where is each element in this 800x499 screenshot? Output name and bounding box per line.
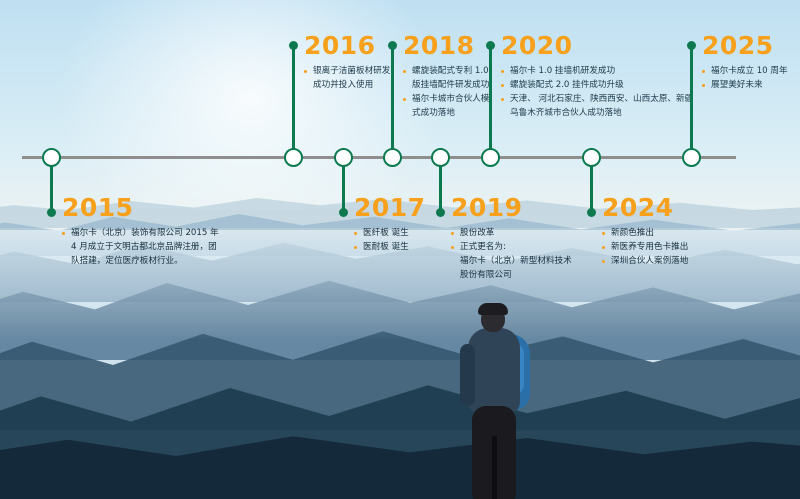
milestone-stem-cap-2016: [289, 41, 298, 50]
milestone-2019[interactable]: 2019股份改革正式更名为:福尔卡（北京）新型材料技术股份有限公司: [451, 195, 572, 282]
hiker-leg-gap: [492, 436, 497, 499]
milestone-item: 福尔卡（北京）装饰有限公司 2015 年: [62, 226, 219, 240]
milestone-2016[interactable]: 2016银离子洁菌板材研发成功并投入使用: [304, 33, 390, 92]
milestone-items-2025: 福尔卡成立 10 周年展望美好未来: [702, 64, 788, 92]
milestone-stem-2016: [292, 45, 295, 157]
milestone-items-2017: 医纤板 诞生医耐板 诞生: [354, 226, 426, 254]
milestone-stem-cap-2024: [587, 208, 596, 217]
milestone-stem-cap-2015: [47, 208, 56, 217]
milestone-2018[interactable]: 2018螺旋装配式专利 1.0版挂墙配件研发成功福尔卡城市合伙人模式成功落地: [403, 33, 489, 120]
milestone-2020[interactable]: 2020福尔卡 1.0 挂墙机研发成功螺旋装配式 2.0 挂件成功升级天津、 河…: [501, 33, 693, 120]
timeline-node-2015[interactable]: [42, 148, 61, 167]
timeline-node-2017[interactable]: [334, 148, 353, 167]
milestone-item: 正式更名为:: [451, 240, 572, 254]
milestone-stem-cap-2019: [436, 208, 445, 217]
milestone-items-2024: 新颜色推出新医养专用色卡推出深圳合伙人案例落地: [602, 226, 688, 268]
milestone-items-2019: 股份改革正式更名为:福尔卡（北京）新型材料技术股份有限公司: [451, 226, 572, 282]
milestone-year-2025: 2025: [702, 33, 788, 58]
milestone-stem-cap-2020: [486, 41, 495, 50]
milestone-item: 成功并投入使用: [304, 78, 390, 92]
milestone-item: 式成功落地: [403, 106, 489, 120]
timeline-node-2025[interactable]: [682, 148, 701, 167]
milestone-item: 队搭建，定位医疗板材行业。: [62, 254, 219, 268]
milestone-item: 医耐板 诞生: [354, 240, 426, 254]
milestone-stem-cap-2018: [388, 41, 397, 50]
milestone-item: 福尔卡 1.0 挂墙机研发成功: [501, 64, 693, 78]
milestone-items-2016: 银离子洁菌板材研发成功并投入使用: [304, 64, 390, 92]
milestone-stem-2018: [391, 45, 394, 157]
milestone-year-2024: 2024: [602, 195, 688, 220]
milestone-year-2018: 2018: [403, 33, 489, 58]
milestone-item: 版挂墙配件研发成功: [403, 78, 489, 92]
hiker-torso: [468, 328, 520, 414]
milestone-item: 4 月成立于文明古都北京品牌注册，团: [62, 240, 219, 254]
milestone-items-2018: 螺旋装配式专利 1.0版挂墙配件研发成功福尔卡城市合伙人模式成功落地: [403, 64, 489, 120]
milestone-item: 新颜色推出: [602, 226, 688, 240]
milestone-item: 新医养专用色卡推出: [602, 240, 688, 254]
timeline-node-2016[interactable]: [284, 148, 303, 167]
milestone-item: 福尔卡成立 10 周年: [702, 64, 788, 78]
milestone-year-2017: 2017: [354, 195, 426, 220]
milestone-year-2019: 2019: [451, 195, 572, 220]
milestone-2015[interactable]: 2015福尔卡（北京）装饰有限公司 2015 年4 月成立于文明古都北京品牌注册…: [62, 195, 219, 268]
milestone-stem-2020: [489, 45, 492, 157]
timeline-node-2020[interactable]: [481, 148, 500, 167]
milestone-item: 福尔卡城市合伙人模: [403, 92, 489, 106]
hiker-cap: [478, 303, 508, 315]
milestone-stem-2025: [690, 45, 693, 157]
sun-glow: [40, 0, 460, 210]
hiker-silhouette: [438, 306, 558, 499]
milestone-stem-cap-2017: [339, 208, 348, 217]
milestone-2017[interactable]: 2017医纤板 诞生医耐板 诞生: [354, 195, 426, 254]
milestone-item: 医纤板 诞生: [354, 226, 426, 240]
milestone-item: 福尔卡（北京）新型材料技术: [451, 254, 572, 268]
milestone-year-2015: 2015: [62, 195, 219, 220]
milestone-item: 股份改革: [451, 226, 572, 240]
timeline-node-2018[interactable]: [383, 148, 402, 167]
milestone-items-2020: 福尔卡 1.0 挂墙机研发成功螺旋装配式 2.0 挂件成功升级天津、 河北石家庄…: [501, 64, 693, 120]
milestone-item: 乌鲁木齐城市合伙人成功落地: [501, 106, 693, 120]
milestone-item: 展望美好未来: [702, 78, 788, 92]
milestone-item: 股份有限公司: [451, 268, 572, 282]
milestone-item: 螺旋装配式 2.0 挂件成功升级: [501, 78, 693, 92]
milestone-2025[interactable]: 2025福尔卡成立 10 周年展望美好未来: [702, 33, 788, 92]
milestone-year-2016: 2016: [304, 33, 390, 58]
timeline-infographic: 2015福尔卡（北京）装饰有限公司 2015 年4 月成立于文明古都北京品牌注册…: [0, 0, 800, 499]
hiker-arm: [460, 344, 475, 406]
timeline-axis: [22, 156, 736, 159]
milestone-item: 螺旋装配式专利 1.0: [403, 64, 489, 78]
milestone-item: 深圳合伙人案例落地: [602, 254, 688, 268]
milestone-year-2020: 2020: [501, 33, 693, 58]
milestone-stem-cap-2025: [687, 41, 696, 50]
milestone-items-2015: 福尔卡（北京）装饰有限公司 2015 年4 月成立于文明古都北京品牌注册，团队搭…: [62, 226, 219, 268]
milestone-item: 天津、 河北石家庄、陕西西安、山西太原、新疆: [501, 92, 693, 106]
timeline-node-2024[interactable]: [582, 148, 601, 167]
timeline-node-2019[interactable]: [431, 148, 450, 167]
milestone-item: 银离子洁菌板材研发: [304, 64, 390, 78]
milestone-2024[interactable]: 2024新颜色推出新医养专用色卡推出深圳合伙人案例落地: [602, 195, 688, 268]
